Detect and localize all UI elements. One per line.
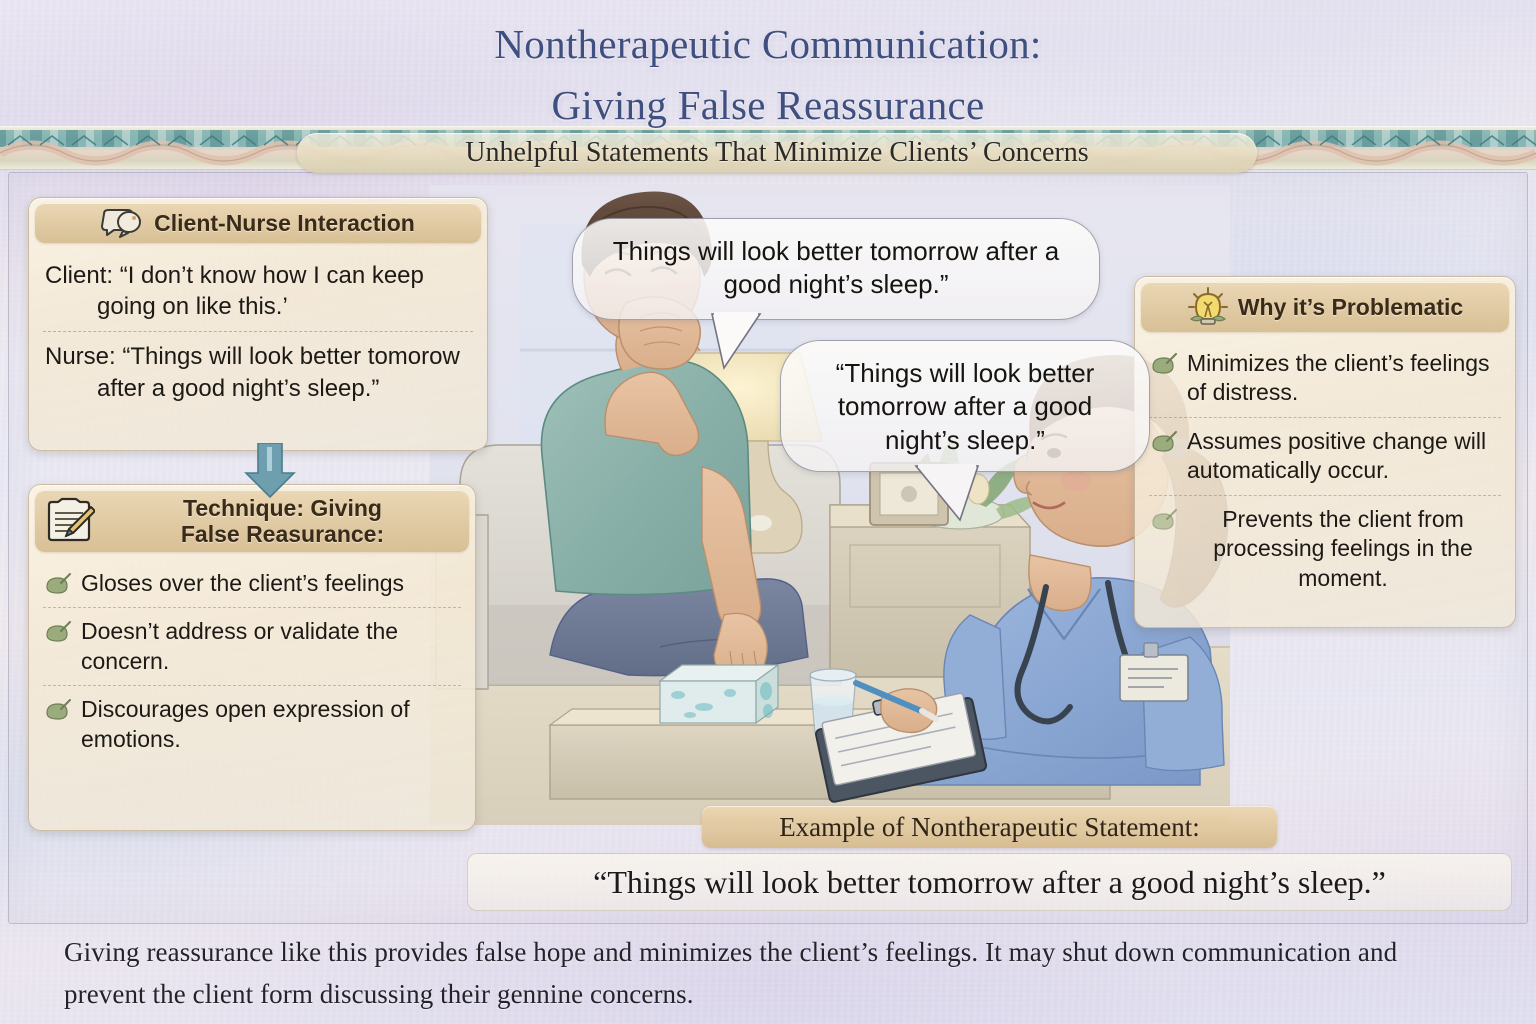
technique-bullet-1: Gloses over the client’s feelings: [43, 560, 461, 607]
problematic-bullet-3-text: Prevents the client from processing feel…: [1187, 505, 1499, 593]
poster-header: Nontherapeutic Communication: Giving Fal…: [0, 0, 1536, 128]
problematic-bullet-3: Prevents the client from processing feel…: [1149, 495, 1501, 602]
leaf-bullet-icon: [45, 621, 71, 643]
example-statement-header: Example of Nontherapeutic Statement:: [702, 806, 1277, 848]
technique-card-title-line-2: False Reasurance:: [104, 521, 461, 547]
technique-bullet-1-text: Gloses over the client’s feelings: [81, 569, 404, 598]
leaf-bullet-icon: [1151, 431, 1177, 453]
leaf-bullet-icon: [45, 699, 71, 721]
lightbulb-icon: [1187, 287, 1229, 327]
technique-bullet-2: Doesn’t address or validate the concern.: [43, 607, 461, 685]
client-nurse-interaction-header: Client-Nurse Interaction: [35, 203, 481, 243]
client-nurse-interaction-title: Client-Nurse Interaction: [154, 210, 415, 236]
subtitle-text: Unhelpful Statements That Minimize Clien…: [465, 137, 1088, 169]
why-problematic-header: Why it’s Problematic: [1141, 282, 1509, 332]
speech-bubbles-icon: [101, 208, 145, 238]
dialogue-quote-nurse: “Things will look better tomorow after a…: [97, 343, 460, 401]
dialogue-speaker-client: Client:: [45, 262, 113, 289]
footer-note-text: Giving reassurance like this provides fa…: [64, 932, 1484, 1016]
speech-bubble-nurse: “Things will look better tomorrow after …: [780, 340, 1150, 472]
leaf-bullet-icon: [1151, 509, 1177, 531]
technique-bullet-3-text: Discourages open expression of emotions.: [81, 695, 459, 754]
leaf-bullet-icon: [45, 573, 71, 595]
subtitle-ribbon: Unhelpful Statements That Minimize Clien…: [297, 133, 1257, 173]
dialogue-row-nurse: Nurse: “Things will look better tomorow …: [43, 331, 473, 412]
dialogue-speaker-nurse: Nurse:: [45, 343, 116, 370]
leaf-bullet-icon: [1151, 353, 1177, 375]
why-problematic-body: Minimizes the client’s feelings of distr…: [1135, 332, 1515, 612]
client-nurse-interaction-body: Client: “I don’t know how I can keep goi…: [29, 243, 487, 423]
why-problematic-title: Why it’s Problematic: [1238, 294, 1463, 320]
speech-bubble-nurse-text: “Things will look better tomorrow after …: [781, 341, 1149, 473]
footer-note: Giving reassurance like this provides fa…: [64, 932, 1484, 1016]
problematic-bullet-1: Minimizes the client’s feelings of distr…: [1149, 340, 1501, 417]
technique-card-header: Technique: Giving False Reasurance:: [35, 490, 469, 552]
example-statement-block: Example of Nontherapeutic Statement: “Th…: [467, 806, 1512, 911]
why-problematic-card: Why it’s Problematic Minimizes the clien…: [1134, 276, 1516, 628]
problematic-bullet-2-text: Assumes positive change will automatical…: [1187, 427, 1499, 486]
example-statement-text: “Things will look better tomorrow after …: [593, 864, 1386, 901]
technique-card-title-line-1: Technique: Giving: [104, 495, 461, 521]
speech-bubble-nurse-tail: [912, 464, 984, 522]
speech-bubble-top-tail: [706, 312, 766, 370]
client-nurse-interaction-card: Client-Nurse Interaction Client: “I don’…: [28, 197, 488, 451]
dialogue-quote-client: “I don’t know how I can keep going on li…: [97, 262, 424, 320]
technique-card-body: Gloses over the client’s feelings Doesn’…: [29, 552, 475, 773]
problematic-bullet-2: Assumes positive change will automatical…: [1149, 417, 1501, 495]
downward-arrow-icon: [240, 443, 300, 498]
page-title-line-1: Nontherapeutic Communication:: [0, 0, 1536, 65]
problematic-bullet-1-text: Minimizes the client’s feelings of distr…: [1187, 349, 1499, 408]
technique-card: Technique: Giving False Reasurance: Glos…: [28, 484, 476, 831]
technique-bullet-3: Discourages open expression of emotions.: [43, 685, 461, 763]
speech-bubble-top: Things will look better tomorrow after a…: [572, 218, 1100, 320]
page-title-line-2: Giving False Reassurance: [0, 65, 1536, 126]
example-statement-body: “Things will look better tomorrow after …: [467, 853, 1512, 911]
dialogue-row-client: Client: “I don’t know how I can keep goi…: [43, 251, 473, 331]
example-statement-title: Example of Nontherapeutic Statement:: [779, 812, 1200, 843]
technique-bullet-2-text: Doesn’t address or validate the concern.: [81, 617, 459, 676]
clipboard-pencil-icon: [43, 497, 95, 545]
speech-bubble-top-text: Things will look better tomorrow after a…: [573, 219, 1099, 318]
